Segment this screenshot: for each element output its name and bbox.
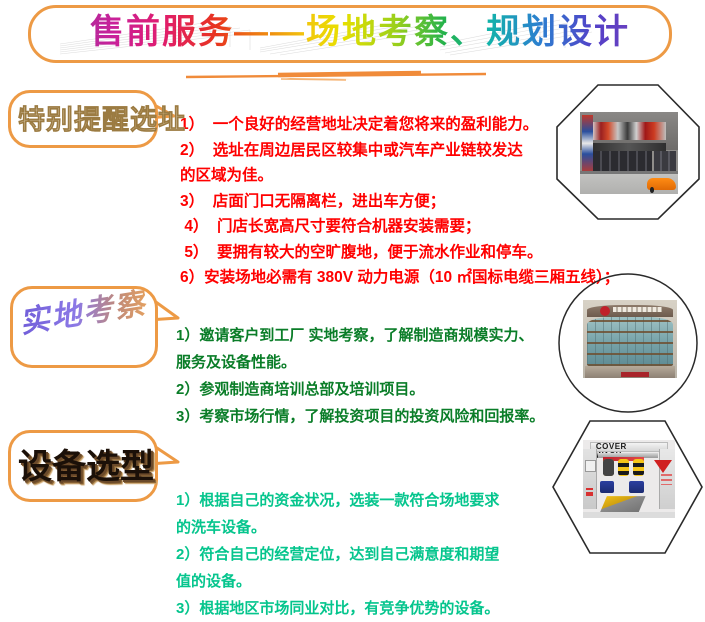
title-divider [186, 68, 498, 84]
body-text-equipment-selection: 1）根据自己的资金状况，选装一款符合场地要求 的洗车设备。 2）符合自己的经营定… [176, 487, 576, 622]
body-text-site-visit: 1）邀请客户到工厂 实地考察，了解制造商规模实力、 服务及设备性能。 2）参观制… [176, 322, 576, 430]
car-wash-machine-photo: COVER WASH [583, 440, 675, 518]
office-building-photo [583, 300, 677, 378]
callout-label-equipment-selection: 设备选型 [18, 442, 154, 492]
car-wash-brand-text: COVER WASH [596, 442, 648, 451]
storefront-photo [580, 112, 678, 194]
page-title: 售前服务——场地考察、规划设计 [60, 8, 660, 56]
callout-label-site-selection: 特别提醒选址 [18, 100, 186, 140]
